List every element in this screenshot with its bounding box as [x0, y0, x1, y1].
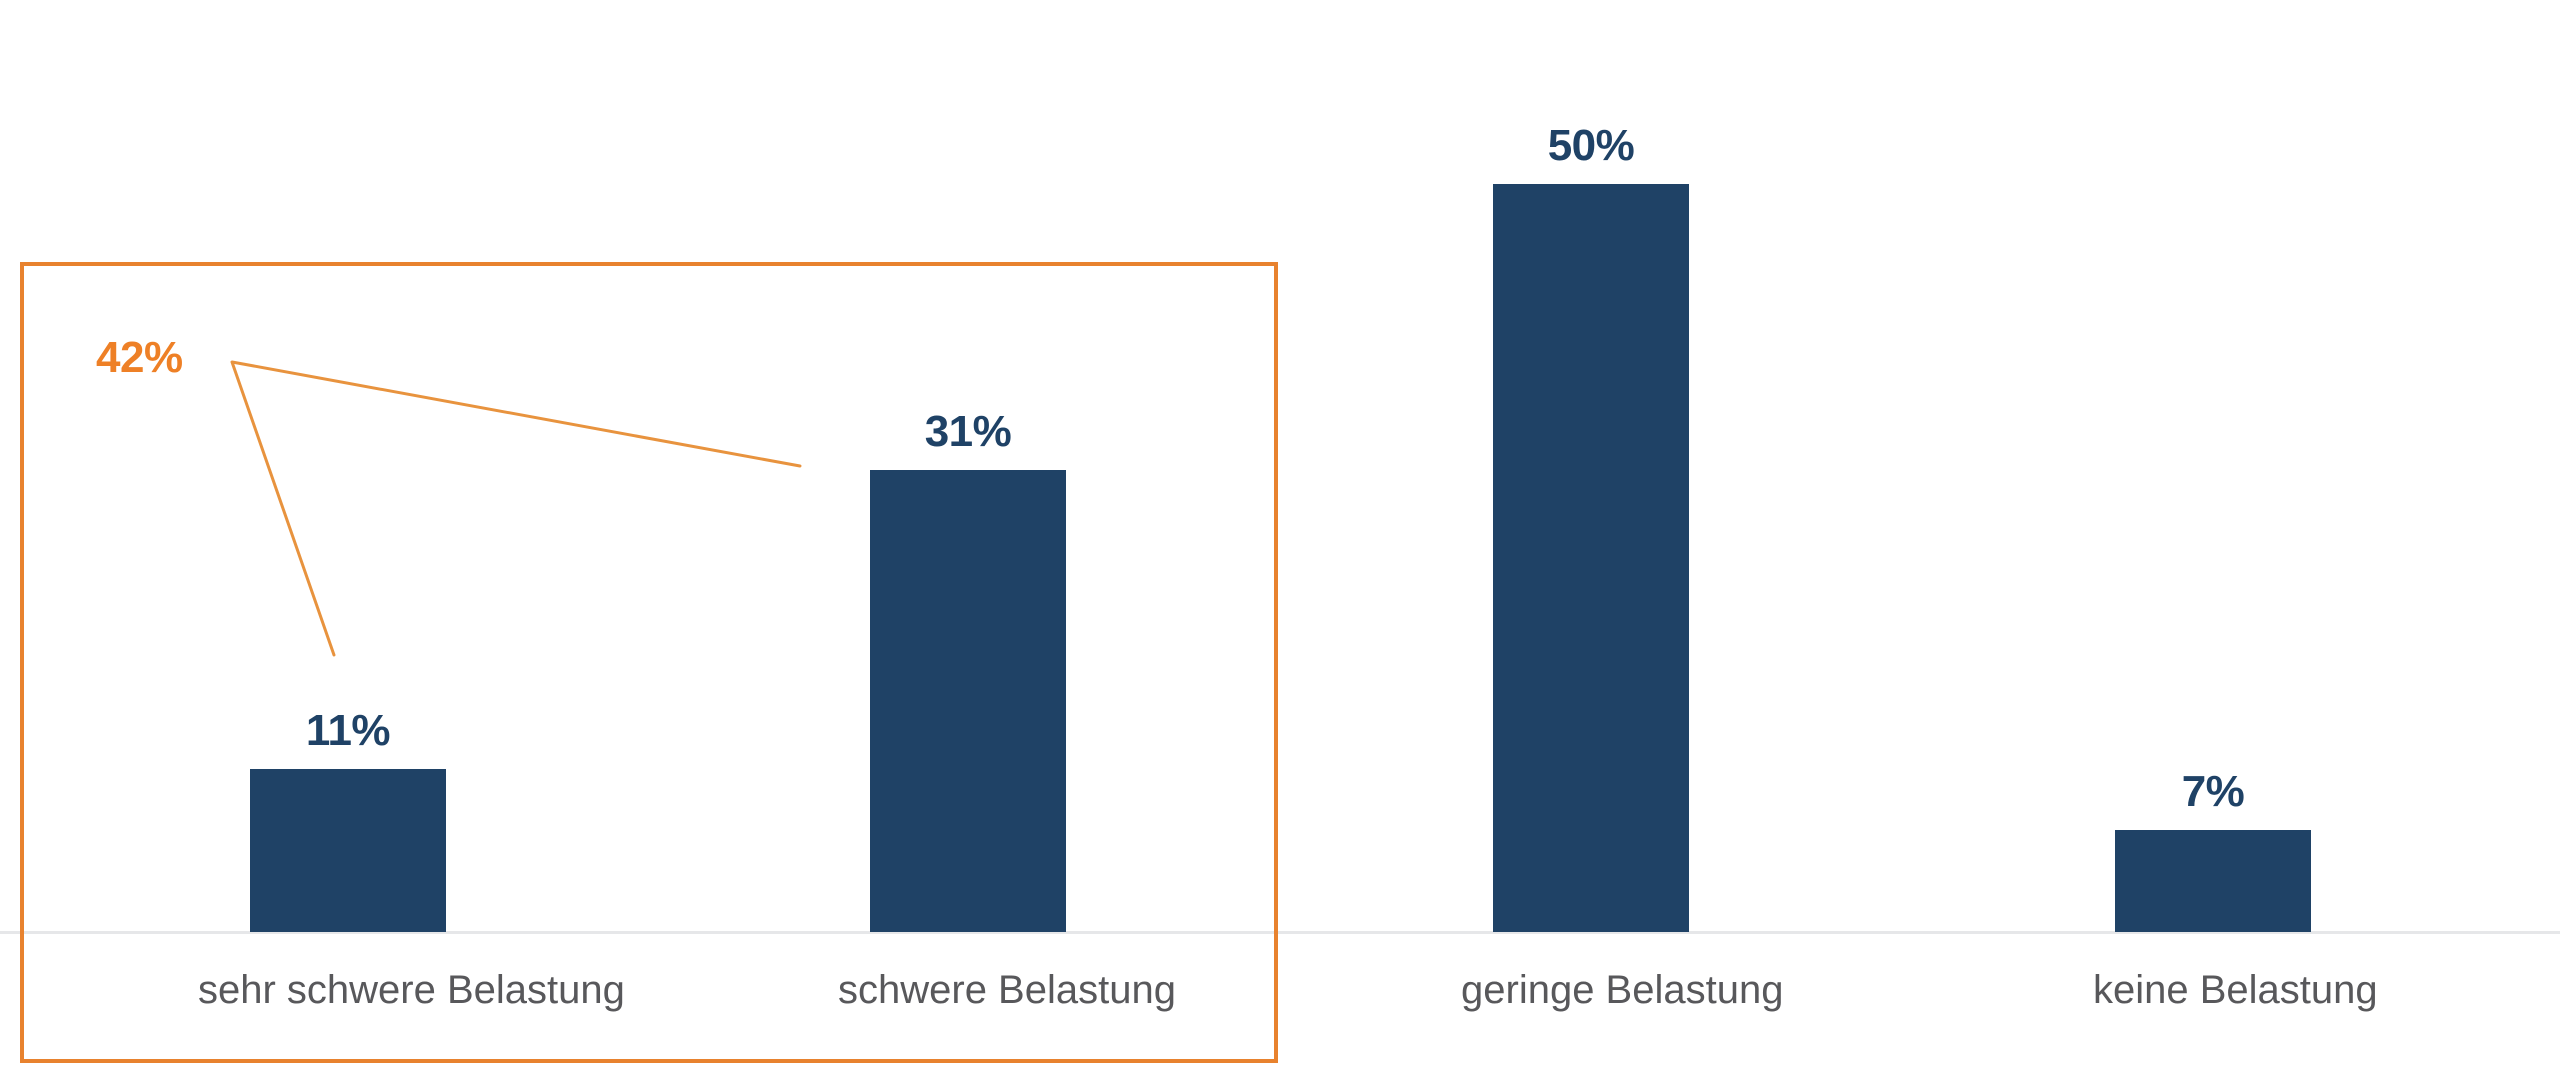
- category-label-keine-belastung: keine Belastung: [2093, 968, 2333, 1013]
- callout-value-label: 42%: [96, 333, 183, 383]
- bar-geringe-belastung[interactable]: [1493, 184, 1689, 932]
- bar-value-label-sehr-schwere-belastung: 11%: [248, 706, 448, 756]
- chart-canvas: 11% sehr schwere Belastung 31% schwere B…: [0, 0, 2560, 1070]
- bar-schwere-belastung[interactable]: [870, 470, 1066, 932]
- category-label-schwere-belastung: schwere Belastung: [838, 968, 1098, 1013]
- category-label-sehr-schwere-belastung: sehr schwere Belastung: [198, 968, 498, 1013]
- bar-value-label-geringe-belastung: 50%: [1491, 121, 1691, 171]
- bar-chart-plot: 11% sehr schwere Belastung 31% schwere B…: [0, 0, 2560, 1070]
- bar-keine-belastung[interactable]: [2115, 830, 2311, 932]
- bar-value-label-schwere-belastung: 31%: [868, 407, 1068, 457]
- bar-sehr-schwere-belastung[interactable]: [250, 769, 446, 932]
- category-label-geringe-belastung: geringe Belastung: [1461, 968, 1721, 1013]
- bar-value-label-keine-belastung: 7%: [2113, 767, 2313, 817]
